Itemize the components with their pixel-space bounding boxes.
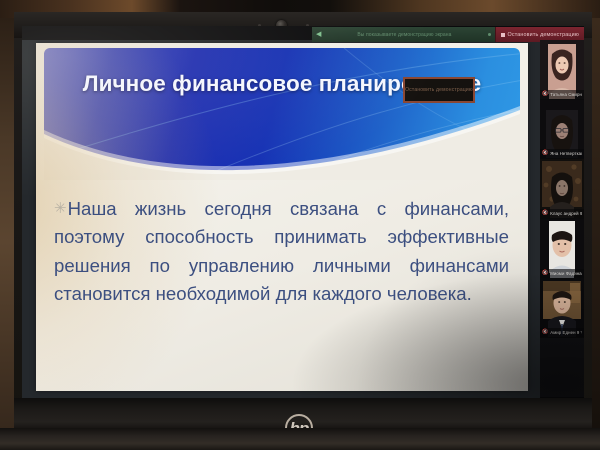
- participant-name: Клаус андрей 9 'б': [550, 211, 582, 216]
- participant-name: Амир Еднен 9 'б': [550, 330, 582, 335]
- stop-square-icon: [501, 33, 505, 37]
- shared-screen-stage: Личное финансовое планирование Остановит…: [22, 40, 540, 398]
- participant-tile[interactable]: 🔇 Амир Еднен 9 'б': [540, 279, 584, 339]
- slide-body-text: ✳Наша жизнь сегодня связана с финансами,…: [54, 195, 509, 309]
- participant-tile-empty: [540, 338, 584, 398]
- participant-namebar: 🔇 Яна Нетверткая: [540, 149, 584, 158]
- participant-name: Яна Нетверткая: [550, 151, 582, 156]
- participant-filmstrip[interactable]: 🔇 Татьяна Смирнова 🔇: [540, 40, 584, 398]
- slide-body-paragraph: Наша жизнь сегодня связана с финансами, …: [54, 198, 509, 304]
- share-notice-label: Вы показываете демонстрацию экрана: [324, 32, 484, 38]
- bullet-star-icon: ✳: [54, 200, 67, 217]
- mic-muted-icon: 🔇: [542, 271, 548, 276]
- chevron-left-icon[interactable]: ◀: [316, 31, 321, 38]
- participant-name: Миоми Фадина 9 'б': [550, 271, 582, 276]
- participant-namebar: 🔇 Амир Еднен 9 'б': [540, 328, 584, 337]
- participant-namebar: 🔇 Клаус андрей 9 'б': [540, 209, 584, 218]
- slide-title-band: [44, 48, 520, 180]
- mic-muted-icon: 🔇: [542, 330, 548, 335]
- participant-namebar: 🔇 Миоми Фадина 9 'б': [540, 269, 584, 278]
- mic-muted-icon: 🔇: [542, 151, 548, 156]
- stop-share-label: Остановить демонстрацию: [508, 32, 580, 38]
- participant-name: Татьяна Смирнова: [550, 92, 582, 97]
- photograph-of-laptop-screen: ◀ Вы показываете демонстрацию экрана Ост…: [0, 0, 600, 450]
- redacted-overlay-label: Остановить демонстрацию: [405, 87, 473, 93]
- laptop-keyboard-deck: [0, 428, 600, 450]
- laptop-screen: ◀ Вы показываете демонстрацию экрана Ост…: [22, 26, 584, 398]
- participant-tile[interactable]: 🔇 Миоми Фадина 9 'б': [540, 219, 584, 279]
- pause-dot-icon[interactable]: [488, 33, 491, 36]
- mic-muted-icon: 🔇: [542, 211, 548, 216]
- redacted-overlay-box: Остановить демонстрацию: [403, 77, 475, 103]
- slide-swoosh-curve: [44, 104, 520, 180]
- participant-tile[interactable]: 🔇 Яна Нетверткая: [540, 100, 584, 160]
- participant-tile[interactable]: 🔇 Клаус андрей 9 'б': [540, 159, 584, 219]
- share-notice-banner[interactable]: ◀ Вы показываете демонстрацию экрана: [312, 27, 495, 42]
- participant-namebar: 🔇 Татьяна Смирнова: [540, 90, 584, 99]
- mic-muted-icon: 🔇: [542, 92, 548, 97]
- participant-tile[interactable]: 🔇 Татьяна Смирнова: [540, 40, 584, 100]
- presentation-slide: Личное финансовое планирование Остановит…: [36, 43, 528, 391]
